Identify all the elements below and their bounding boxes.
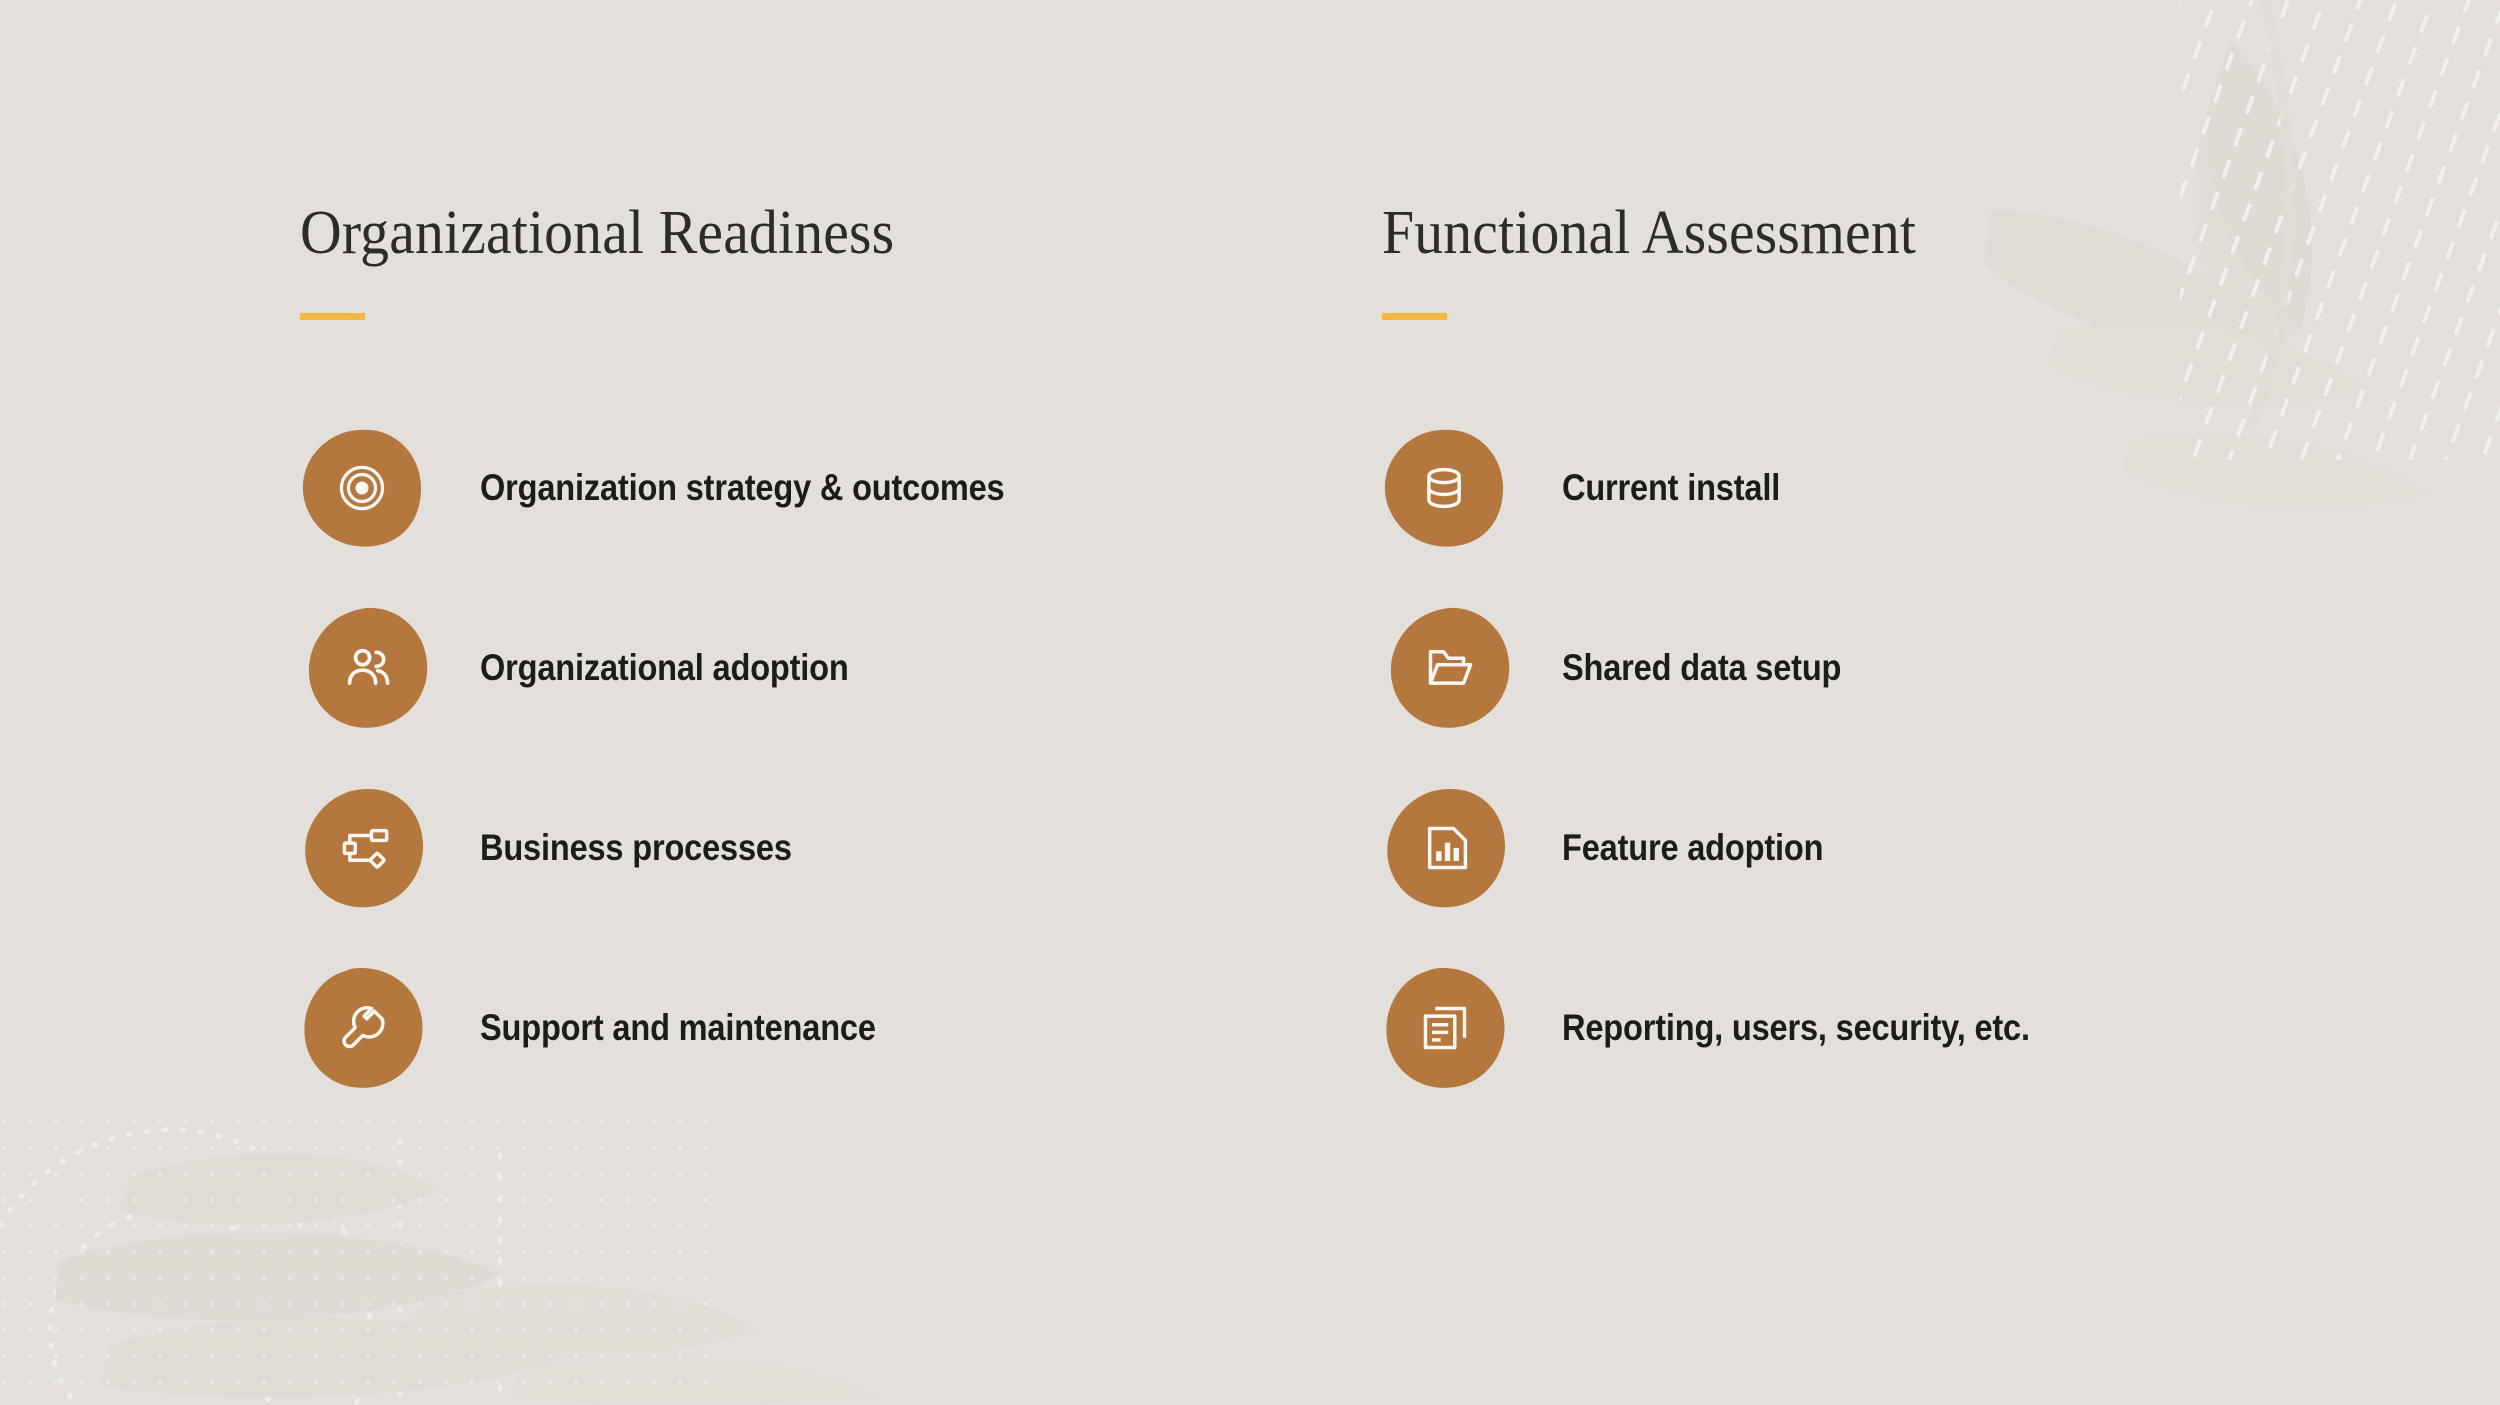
list-item[interactable]: Organizational adoption: [300, 578, 1300, 758]
columns-container: Organizational Readiness Organi: [0, 0, 2500, 1405]
list-item-label: Feature adoption: [1562, 827, 1823, 869]
list-item-label: Shared data setup: [1562, 647, 1841, 689]
list-item[interactable]: Reporting, users, security, etc.: [1382, 938, 2382, 1118]
slide-canvas: Organizational Readiness Organi: [0, 0, 2500, 1405]
list-item[interactable]: Organization strategy & outcomes: [300, 398, 1300, 578]
folder-open-icon: [1388, 606, 1512, 730]
column-title-left: Organizational Readiness: [300, 200, 1230, 267]
wrench-icon: [301, 966, 425, 1090]
list-item-label: Business processes: [480, 827, 792, 869]
title-accent-rule-left: [300, 313, 365, 320]
list-item[interactable]: Current install: [1382, 398, 2382, 578]
users-icon: [306, 606, 430, 730]
list-item[interactable]: Feature adoption: [1382, 758, 2382, 938]
database-icon: [1382, 426, 1506, 550]
documents-icon: [1383, 966, 1507, 1090]
list-item[interactable]: Support and maintenance: [300, 938, 1300, 1118]
list-item-label: Support and maintenance: [480, 1007, 876, 1049]
chart-document-icon: [1385, 786, 1509, 910]
column-organizational-readiness: Organizational Readiness Organi: [300, 200, 1300, 1118]
list-item[interactable]: Business processes: [300, 758, 1300, 938]
column-title-right: Functional Assessment: [1382, 200, 2312, 267]
list-item-label: Reporting, users, security, etc.: [1562, 1007, 2030, 1049]
list-item-label: Organization strategy & outcomes: [480, 467, 1004, 509]
item-list-right: Current install Shared data setup: [1382, 398, 2382, 1118]
target-icon: [300, 426, 424, 550]
workflow-icon: [303, 786, 427, 910]
list-item[interactable]: Shared data setup: [1382, 578, 2382, 758]
item-list-left: Organization strategy & outcomes: [300, 398, 1300, 1118]
list-item-label: Organizational adoption: [480, 647, 849, 689]
title-accent-rule-right: [1382, 313, 1447, 320]
column-functional-assessment: Functional Assessment Current i: [1382, 200, 2382, 1118]
list-item-label: Current install: [1562, 467, 1780, 509]
